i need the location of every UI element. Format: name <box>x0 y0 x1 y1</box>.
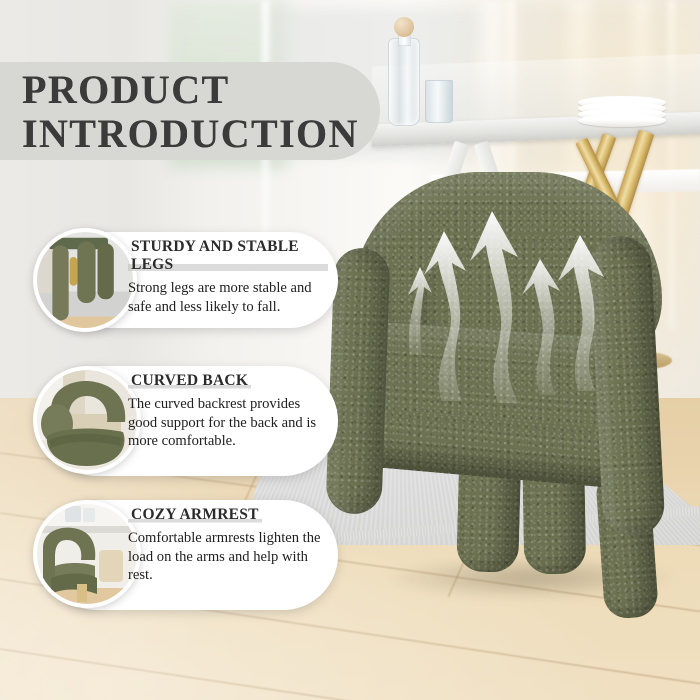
feature-heading: CURVED BACK <box>128 372 251 390</box>
thumbnail-image-back <box>37 370 137 470</box>
feature-thumbnail-cozy-armrest <box>33 500 141 608</box>
feature-thumbnail-curved-back <box>33 366 141 474</box>
page-title-line-2: INTRODUCTION <box>22 112 382 156</box>
feature-thumbnail-sturdy-legs <box>33 228 137 332</box>
page-title-line-1: PRODUCT <box>22 68 382 112</box>
thumbnail-image-legs <box>37 232 133 328</box>
armrest-photo-art <box>37 504 137 604</box>
feature-heading: COZY ARMREST <box>128 506 262 524</box>
legs-photo-art <box>37 232 133 328</box>
curved-back-photo-art <box>37 370 137 470</box>
page-title-line-1-text: PRODUCT <box>22 68 230 112</box>
feature-heading: STURDY AND STABLE LEGS <box>128 238 328 274</box>
page-title: PRODUCT INTRODUCTION <box>22 68 382 156</box>
feature-body: Comfortable armrests lighten the load on… <box>128 529 336 585</box>
feature-text-cozy-armrest: COZY ARMREST Comfortable armrests lighte… <box>128 506 336 585</box>
feature-text-curved-back: CURVED BACK The curved backrest provides… <box>128 372 328 451</box>
page-title-line-2-text: INTRODUCTION <box>22 112 359 156</box>
feature-text-sturdy-legs: STURDY AND STABLE LEGS Strong legs are m… <box>128 238 328 316</box>
feature-body: Strong legs are more stable and safe and… <box>128 279 328 316</box>
thumbnail-image-armrest <box>37 504 137 604</box>
product-introduction-graphic: PRODUCT INTRODUCTION STURDY AND STABLE L… <box>0 0 700 700</box>
feature-body: The curved backrest provides good suppor… <box>128 395 328 451</box>
